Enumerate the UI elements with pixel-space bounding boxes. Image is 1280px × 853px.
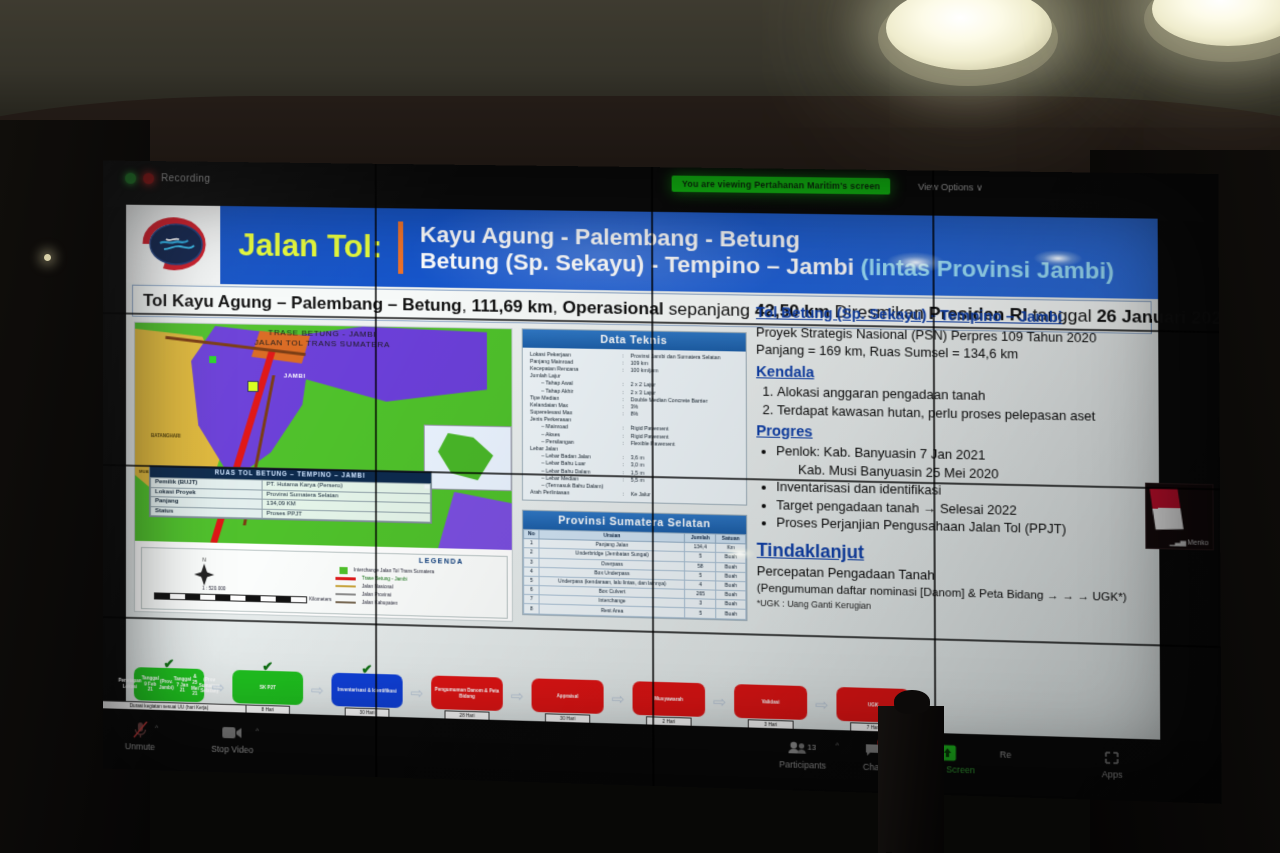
subtitle-road: Tol Kayu Agung – Palembang – Betung [143, 291, 462, 315]
legend-swatch-4 [335, 601, 355, 604]
flow-step-label-line: Tanggal 9 Feb 21 [142, 675, 159, 693]
map-marker-interchange-2 [209, 356, 216, 363]
provinsi-table: NoUraianJumlahSatuan1Panjang Jalan134,4K… [523, 529, 746, 620]
chevron-up-icon[interactable]: ^ [155, 725, 158, 732]
microphone-muted-icon [132, 721, 147, 739]
thumbnail-label: ▁▃▅ Menko [1170, 538, 1209, 547]
flow-arrow-icon: ⇨ [606, 680, 631, 708]
flow-step-label-line: & 25 Mei 21 [191, 674, 199, 697]
video-camera-icon [222, 724, 242, 742]
flow-step-box-5: Musyawarah [632, 681, 705, 717]
data-teknis-card: Data Teknis Lokasi Pekerjaan:Provinsi Ja… [522, 328, 747, 505]
record-dot-icon [143, 173, 154, 184]
legend-label-3: Jalan Provinsi [362, 592, 392, 598]
podium-camera [894, 690, 930, 714]
map-label-batanghari: BATANGHARI [151, 433, 181, 439]
recording-indicator: Recording [125, 173, 210, 185]
provinsi-cell-7-3: Buah [716, 609, 746, 619]
flow-step-label-line: (Prov. Jambi) [159, 679, 174, 691]
flow-arrow-icon: ⇨ [707, 683, 732, 711]
map-scale-label: 1 : 520.000 [202, 586, 226, 592]
slide-header-label: Jalan Tol: [238, 227, 382, 265]
legend-title: LEGENDA [419, 558, 464, 566]
flow-arrow-icon: ⇨ [206, 669, 230, 697]
flow-step-box-0: Penetapan LokasiTanggal 9 Feb 21(Prov. J… [134, 667, 204, 702]
toolbar-stop-video-button[interactable]: Stop Video ^ [211, 724, 253, 755]
legend-swatch-0 [339, 567, 347, 574]
provinsi-cell-7-0: 8 [524, 604, 540, 614]
middle-column: Data Teknis Lokasi Pekerjaan:Provinsi Ja… [522, 328, 748, 620]
provinsi-col-0: No [524, 529, 540, 539]
share-banner: You are viewing Pertahanan Maritim's scr… [672, 176, 891, 195]
flow-step-box-6: Validasi [734, 684, 807, 720]
flow-step-4: Appraisal30 Hari [529, 678, 605, 724]
flow-step-label-line: Inventarisasi & Identifikasi [338, 687, 397, 694]
flow-step-6: Validasi3 Hari [732, 684, 809, 731]
flow-arrow-icon: ⇨ [505, 678, 530, 706]
flow-step-0: ✔Penetapan LokasiTanggal 9 Feb 21(Prov. … [132, 667, 206, 713]
map-legend: LEGENDA N 1 : 520.000 [141, 547, 508, 619]
provinsi-cell-3-0: 4 [524, 567, 540, 577]
map-label-jambi: JAMBI [284, 373, 306, 379]
subtitle-along-label: sepanjang [669, 299, 750, 320]
toolbar-participants-label: Participants [779, 759, 826, 771]
flow-step-label-line: Pengumuman Danom & Peta Bidang [434, 686, 499, 700]
map-area-purple-corner [438, 492, 512, 550]
organization-logo [126, 205, 220, 284]
view-options-label: View Options [918, 181, 974, 192]
participant-thumbnail[interactable]: ▁▃▅ Menko [1145, 483, 1214, 551]
presentation-slide: Jalan Tol: Kayu Agung - Palembang - Betu… [126, 205, 1160, 748]
svg-text:130: 130 [808, 743, 816, 753]
flow-step-1: ✔SK P2T8 Hari [230, 670, 305, 716]
ruas-tol-table: RUAS TOL BETUNG – TEMPINO – JAMBI Pemili… [149, 465, 432, 524]
ruas-key-3: Status [150, 506, 261, 518]
provinsi-table-card: Provinsi Sumatera Selatan NoUraianJumlah… [522, 509, 747, 620]
apps-icon [1104, 748, 1120, 766]
flow-step-label-line: Validasi [762, 699, 780, 705]
provinsi-cell-1-0: 2 [524, 548, 540, 558]
recording-label: Recording [161, 173, 210, 185]
toolbar-apps-label: Apps [1102, 769, 1123, 780]
provinsi-cell-2-0: 3 [524, 557, 540, 567]
map-marker-interchange [247, 381, 258, 392]
flow-arrow-icon: ⇨ [405, 675, 430, 703]
toolbar-record-label: Re [1000, 749, 1012, 760]
subtitle-status-word: Operasional [562, 298, 663, 319]
check-icon: ✔ [361, 661, 372, 677]
toolbar-unmute-label: Unmute [125, 741, 155, 752]
header-divider [398, 221, 403, 273]
legend-label-0: Interchange Jalan Tol Trans Sumatera [354, 567, 435, 574]
data-teknis-key-19: Arah Perlintasan [528, 489, 620, 498]
flow-arrow-icon: ⇨ [305, 672, 329, 700]
map-scale-unit: Kilometers [309, 596, 331, 602]
zoom-meeting-window: Recording You are viewing Pertahanan Mar… [103, 160, 1222, 803]
compass-icon: N [194, 557, 214, 588]
provinsi-cell-4-0: 5 [524, 576, 540, 586]
chevron-up-icon[interactable]: ^ [256, 728, 259, 735]
thumbnail-name: Menko [1188, 539, 1209, 547]
globe-logo-icon [136, 215, 210, 274]
data-teknis-body: Lokasi Pekerjaan:Provinsi Jambi dan Suma… [523, 348, 746, 505]
legend-swatch-3 [335, 593, 355, 596]
screen-share-bar: You are viewing Pertahanan Maritim's scr… [672, 176, 984, 196]
flow-step-5: Musyawarah2 Hari [630, 681, 707, 728]
flow-step-box-4: Appraisal [532, 678, 604, 714]
legend-swatch-2 [335, 585, 355, 588]
legend-swatch-1 [335, 577, 355, 581]
progres-list-continued: Inventarisasi dan identifikasi Target pe… [756, 479, 1152, 541]
flow-step-label-line: Tanggal 7 Jan 21 [174, 676, 191, 694]
kendala-list: Alokasi anggaran pengadaan tanah Terdapa… [756, 383, 1152, 426]
chevron-up-icon[interactable]: ^ [836, 742, 839, 749]
header-line-2-main: Betung (Sp. Sekayu) - Tempino – Jambi [420, 248, 854, 280]
trase-map: TRASE BETUNG - JAMBI JALAN TOL TRANS SUM… [134, 322, 513, 622]
flow-step-label-line: Musyawarah [654, 696, 683, 703]
slide-header-titles: Kayu Agung - Palembang - Betung Betung (… [420, 222, 1114, 285]
slide-header: Jalan Tol: Kayu Agung - Palembang - Betu… [126, 205, 1158, 299]
signal-icon: ▁▃▅ [1170, 539, 1186, 547]
slide-body: TRASE BETUNG - JAMBI JALAN TOL TRANS SUM… [132, 322, 1154, 691]
toolbar-stop-video-label: Stop Video [211, 744, 253, 755]
wall-indicator-light [44, 254, 51, 261]
flow-step-label-line: Appraisal [557, 693, 579, 699]
data-teknis-sep: : [620, 491, 628, 498]
flow-step-2: ✔Inventarisasi & Identifikasi30 Hari [329, 673, 404, 719]
toolbar-participants-button[interactable]: 130 Participants ^ [779, 739, 826, 771]
map-scale-bar [154, 592, 307, 603]
data-teknis-table: Lokasi Pekerjaan:Provinsi Jambi dan Suma… [528, 351, 741, 501]
flow-step-label-line: SK P2T [260, 684, 276, 690]
flow-step-box-2: Inventarisasi & Identifikasi [331, 673, 402, 708]
check-icon: ✔ [262, 659, 273, 675]
toolbar-record-button[interactable]: Re [1000, 749, 1012, 760]
people-icon: 130 [789, 739, 816, 757]
toolbar-unmute-button[interactable]: Unmute ^ [125, 721, 155, 752]
flow-step-label-line: Penetapan Lokasi [118, 677, 141, 689]
provinsi-cell-7-2: 5 [685, 608, 716, 618]
right-text-panel: Tol Betung (Sp. Sekayu) - Tempino – Jamb… [756, 300, 1153, 620]
conference-room-photo: Recording You are viewing Pertahanan Mar… [0, 0, 1280, 853]
data-teknis-val-19: Ke Jalur [629, 491, 741, 501]
flow-step-label-line: UGK [868, 702, 879, 708]
podium-stand [878, 706, 944, 853]
legend-label-1: Trase Betung - Jambi [362, 576, 407, 582]
view-options-button[interactable]: View Options ∨ [918, 181, 983, 193]
flow-step-3: Pengumuman Danom & Peta Bidang28 Hari [429, 675, 505, 721]
toolbar-apps-button[interactable]: Apps [1102, 748, 1123, 780]
provinsi-cell-5-0: 6 [524, 585, 540, 595]
provinsi-cell-6-0: 7 [524, 595, 540, 605]
chevron-down-icon: ∨ [976, 182, 983, 192]
provinsi-cell-0-0: 1 [524, 539, 540, 549]
header-line-2-note: (lintas Provinsi Jambi) [861, 254, 1114, 283]
video-wall-display: Recording You are viewing Pertahanan Mar… [103, 160, 1222, 803]
flow-step-box-3: Pengumuman Danom & Peta Bidang [431, 675, 503, 711]
slide-header-banner: Jalan Tol: Kayu Agung - Palembang - Betu… [220, 206, 1158, 299]
flow-arrow-icon: ⇨ [809, 686, 834, 714]
subtitle-length: 111,69 km [471, 296, 552, 317]
indonesia-flag-icon [1150, 488, 1184, 529]
connection-status-dot [125, 173, 136, 184]
legend-label-2: Jalan Nasional [362, 584, 393, 590]
flow-step-box-1: SK P2T [232, 670, 303, 705]
legend-label-4: Jalan Kabupaten [362, 600, 398, 606]
check-icon: ✔ [164, 656, 175, 672]
